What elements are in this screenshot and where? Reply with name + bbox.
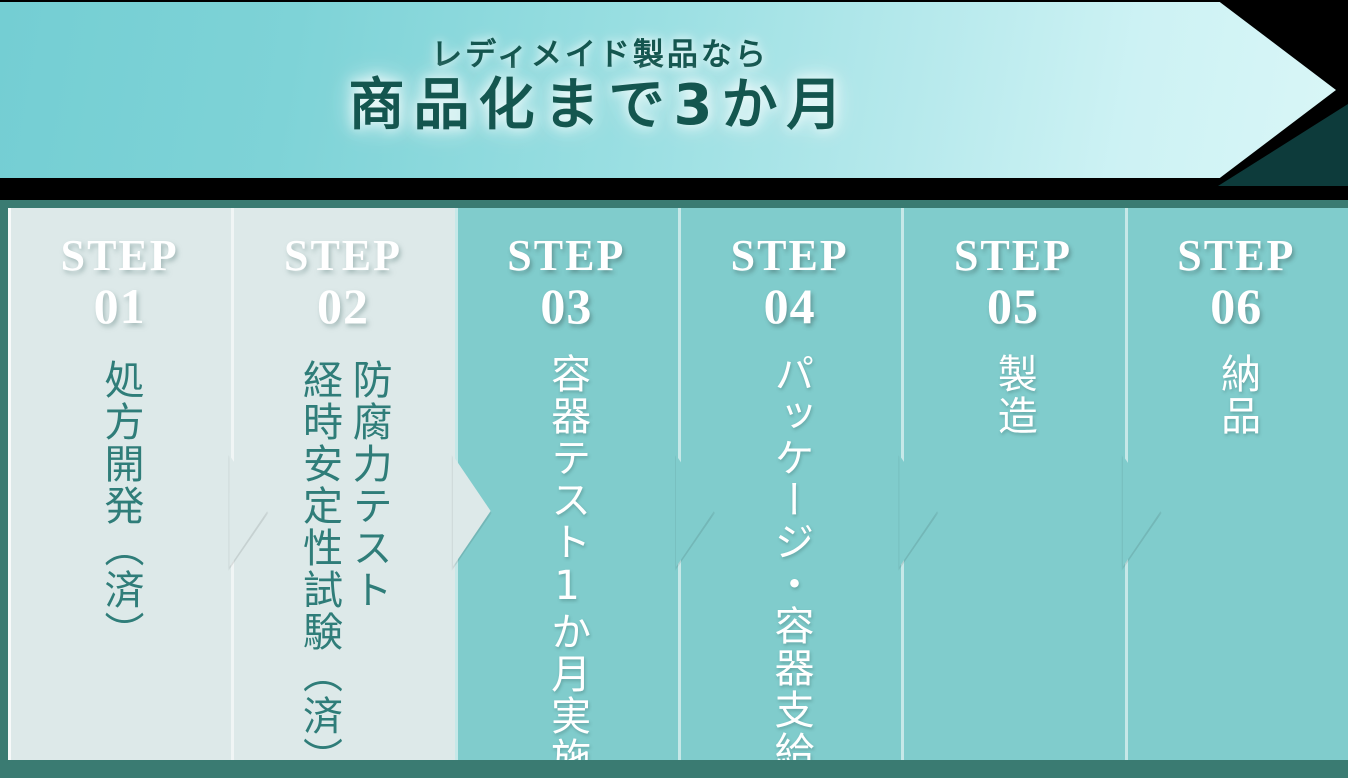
steps-frame: STEP 01 処方開発（済） STEP 02 防腐力テスト 経時安定性試験（済… xyxy=(0,200,1348,778)
step-content: STEP 01 処方開発（済） xyxy=(8,208,231,760)
step-label-group: 製造 xyxy=(901,353,1124,437)
step-number: 05 xyxy=(987,280,1039,333)
step-label: 容器テスト1か月実施 xyxy=(544,353,590,761)
step-label: 納品 xyxy=(1214,353,1260,437)
step-number: 03 xyxy=(540,280,592,333)
banner-text-block: レディメイド製品なら 商品化まで3か月 xyxy=(0,0,1200,176)
step-label-group: 防腐力テスト 経時安定性試験（済） xyxy=(231,359,454,761)
step-label-group: 納品 xyxy=(1125,353,1348,437)
step-card-01[interactable]: STEP 01 処方開発（済） xyxy=(8,208,231,760)
steps-row: STEP 01 処方開発（済） STEP 02 防腐力テスト 経時安定性試験（済… xyxy=(8,208,1348,760)
step-number: 02 xyxy=(317,280,369,333)
step-content: STEP 04 パッケージ・容器支給 xyxy=(678,208,901,760)
step-label-secondary: 経時安定性試験（済） xyxy=(295,359,341,761)
step-number: 01 xyxy=(94,280,146,333)
step-card-02[interactable]: STEP 02 防腐力テスト 経時安定性試験（済） xyxy=(231,208,454,760)
step-number: 04 xyxy=(764,280,816,333)
step-content: STEP 02 防腐力テスト 経時安定性試験（済） xyxy=(231,208,454,760)
step-label-group: 容器テスト1か月実施 xyxy=(455,353,678,761)
step-word: STEP xyxy=(507,234,625,278)
step-content: STEP 05 製造 xyxy=(901,208,1124,760)
step-label-group: 処方開発（済） xyxy=(8,359,231,653)
step-card-05[interactable]: STEP 05 製造 xyxy=(901,208,1124,760)
step-number: 06 xyxy=(1210,280,1262,333)
step-label: 処方開発（済） xyxy=(97,359,143,653)
banner-title: 商品化まで3か月 xyxy=(349,74,852,138)
step-card-04[interactable]: STEP 04 パッケージ・容器支給 xyxy=(678,208,901,760)
step-word: STEP xyxy=(954,234,1072,278)
step-content: STEP 06 納品 xyxy=(1125,208,1348,760)
step-label: 防腐力テスト xyxy=(345,359,391,611)
step-label: パッケージ・容器支給 xyxy=(767,353,813,761)
step-word: STEP xyxy=(1177,234,1295,278)
step-word: STEP xyxy=(731,234,849,278)
step-word: STEP xyxy=(61,234,179,278)
banner-subtitle: レディメイド製品なら xyxy=(431,38,769,72)
step-card-06[interactable]: STEP 06 納品 xyxy=(1125,208,1348,760)
step-word: STEP xyxy=(284,234,402,278)
step-content: STEP 03 容器テスト1か月実施 xyxy=(455,208,678,760)
step-label: 製造 xyxy=(990,353,1036,437)
banner-area: レディメイド製品なら 商品化まで3か月 xyxy=(0,0,1348,186)
step-label-group: パッケージ・容器支給 xyxy=(678,353,901,761)
step-card-03[interactable]: STEP 03 容器テスト1か月実施 xyxy=(455,208,678,760)
